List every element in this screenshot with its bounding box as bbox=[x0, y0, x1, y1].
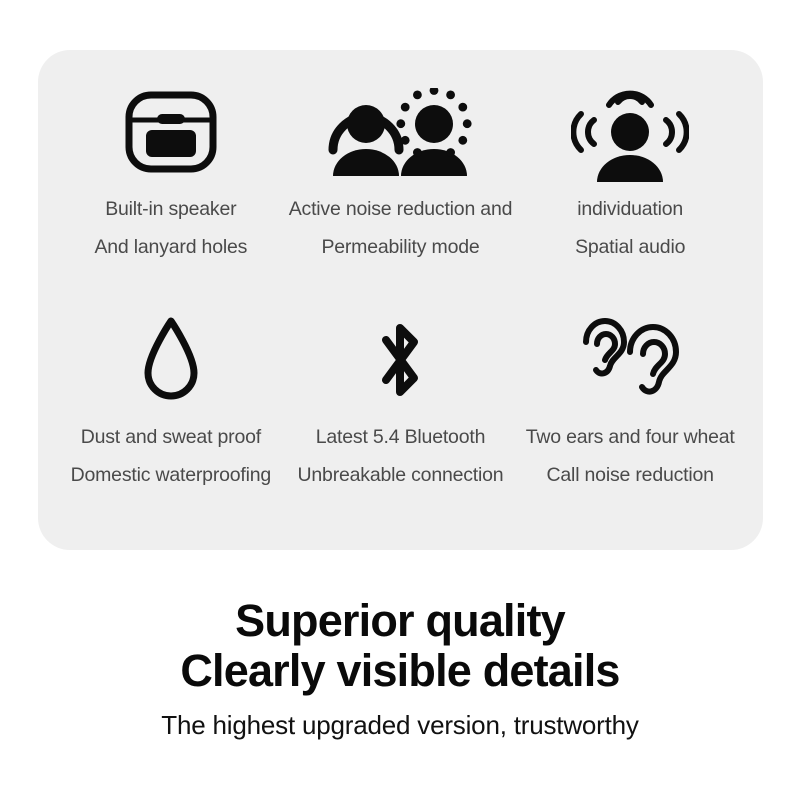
product-feature-infographic: Built-in speaker And lanyard holes bbox=[0, 0, 800, 800]
feature-line-1: Built-in speaker bbox=[105, 190, 236, 228]
caption-group: Built-in speaker And lanyard holes bbox=[94, 190, 247, 266]
caption-group: Two ears and four wheat Call noise reduc… bbox=[526, 418, 735, 494]
feature-cell-active-noise-reduction: Active noise reduction and Permeability … bbox=[286, 76, 516, 304]
feature-line-1: Active noise reduction and bbox=[289, 190, 513, 228]
anc-person bbox=[333, 105, 399, 176]
subheadline: The highest upgraded version, trustworth… bbox=[0, 708, 800, 742]
transparency-person bbox=[397, 88, 472, 176]
feature-line-2: Domestic waterproofing bbox=[71, 456, 271, 494]
left-ear bbox=[586, 321, 624, 373]
feature-cell-two-ears: Two ears and four wheat Call noise reduc… bbox=[515, 304, 745, 532]
caption-group: Dust and sweat proof Domestic waterproof… bbox=[71, 418, 271, 494]
caption-group: individuation Spatial audio bbox=[575, 190, 685, 266]
right-ear bbox=[630, 327, 676, 392]
feature-line-1: Dust and sweat proof bbox=[81, 418, 261, 456]
feature-grid: Built-in speaker And lanyard holes bbox=[56, 76, 745, 532]
earbuds-charging-case-icon bbox=[125, 76, 217, 188]
two-ears-icon bbox=[574, 304, 686, 416]
caption-group: Latest 5.4 Bluetooth Unbreakable connect… bbox=[298, 418, 504, 494]
feature-cell-waterproof: Dust and sweat proof Domestic waterproof… bbox=[56, 304, 286, 532]
feature-line-2: Spatial audio bbox=[575, 228, 685, 266]
footer-headline-block: Superior quality Clearly visible details… bbox=[0, 596, 800, 742]
feature-line-1: individuation bbox=[577, 190, 683, 228]
feature-cell-built-in-speaker: Built-in speaker And lanyard holes bbox=[56, 76, 286, 304]
headline-line-2: Clearly visible details bbox=[0, 646, 800, 696]
feature-line-2: Permeability mode bbox=[321, 228, 479, 266]
water-droplet-icon bbox=[140, 304, 202, 416]
feature-line-1: Two ears and four wheat bbox=[526, 418, 735, 456]
bluetooth-icon bbox=[368, 304, 432, 416]
headline-line-1: Superior quality bbox=[0, 596, 800, 646]
feature-line-2: And lanyard holes bbox=[94, 228, 247, 266]
feature-cell-bluetooth: Latest 5.4 Bluetooth Unbreakable connect… bbox=[286, 304, 516, 532]
feature-line-1: Latest 5.4 Bluetooth bbox=[316, 418, 485, 456]
caption-group: Active noise reduction and Permeability … bbox=[289, 190, 513, 266]
noise-reduction-transparency-people-icon bbox=[312, 76, 488, 188]
feature-line-2: Unbreakable connection bbox=[298, 456, 504, 494]
feature-cell-spatial-audio: individuation Spatial audio bbox=[515, 76, 745, 304]
feature-card: Built-in speaker And lanyard holes bbox=[38, 50, 763, 550]
spatial-audio-person-icon bbox=[571, 76, 689, 188]
feature-line-2: Call noise reduction bbox=[547, 456, 714, 494]
